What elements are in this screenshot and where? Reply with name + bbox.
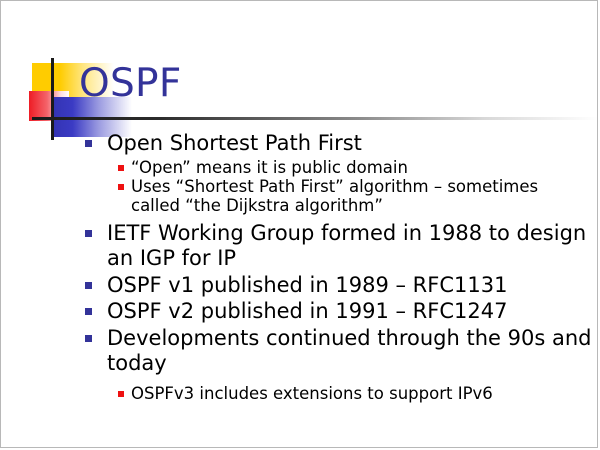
presentation-slide: OSPF Open Shortest Path First “Open” mea… xyxy=(0,0,598,448)
bullet-level2: OSPFv3 includes extensions to support IP… xyxy=(1,384,598,403)
bullet-level2: “Open” means it is public domain xyxy=(1,158,598,177)
bullet-text: Developments continued through the 90s a… xyxy=(107,326,598,377)
bullet-text: OSPF v2 published in 1991 – RFC1247 xyxy=(107,299,598,325)
bullet-square-icon xyxy=(85,140,92,147)
sub-bullet-text: Uses “Shortest Path First” algorithm – s… xyxy=(131,177,587,215)
sub-bullet-square-icon xyxy=(118,391,124,397)
bullet-text: OSPF v1 published in 1989 – RFC1131 xyxy=(107,273,598,299)
sub-bullet-square-icon xyxy=(118,184,124,190)
sub-bullet-square-icon xyxy=(118,165,124,171)
logo-vertical-rule xyxy=(51,58,54,140)
bullet-square-icon xyxy=(85,308,92,315)
bullet-level1: Developments continued through the 90s a… xyxy=(1,326,598,377)
slide-body: Open Shortest Path First “Open” means it… xyxy=(1,131,598,403)
bullet-square-icon xyxy=(85,230,92,237)
bullet-text: IETF Working Group formed in 1988 to des… xyxy=(107,221,598,272)
title-underline-rule xyxy=(32,117,598,120)
bullet-level1: OSPF v2 published in 1991 – RFC1247 xyxy=(1,299,598,325)
sub-bullet-text: “Open” means it is public domain xyxy=(131,158,587,177)
bullet-level2: Uses “Shortest Path First” algorithm – s… xyxy=(1,177,598,215)
bullet-level1: Open Shortest Path First xyxy=(1,131,598,157)
bullet-square-icon xyxy=(85,335,92,342)
bullet-square-icon xyxy=(85,282,92,289)
sub-bullet-text: OSPFv3 includes extensions to support IP… xyxy=(131,384,587,403)
bullet-text: Open Shortest Path First xyxy=(107,131,598,157)
bullet-level1: IETF Working Group formed in 1988 to des… xyxy=(1,221,598,272)
bullet-level1: OSPF v1 published in 1989 – RFC1131 xyxy=(1,273,598,299)
slide-title: OSPF xyxy=(79,61,182,106)
